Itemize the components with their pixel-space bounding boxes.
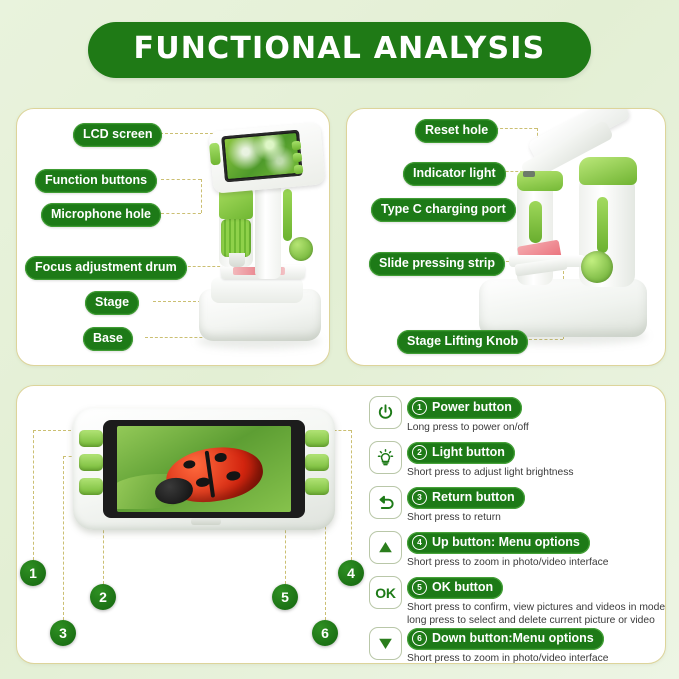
legend-item-down: 6 Down button:Menu options Short press t… bbox=[369, 627, 608, 664]
legend-pill-power: 1 Power button bbox=[407, 397, 522, 419]
label-indicator-light: Indicator light bbox=[403, 162, 506, 186]
legend-pill-down: 6 Down button:Menu options bbox=[407, 628, 604, 650]
triangle-down-icon bbox=[369, 627, 402, 660]
label-stage: Stage bbox=[85, 291, 139, 315]
legend-desc-light: Short press to adjust light brightness bbox=[407, 466, 574, 479]
title-pill: FUNCTIONAL ANALYSIS bbox=[88, 22, 592, 78]
callout-number-2: 2 bbox=[90, 584, 116, 610]
legend-item-ok: OK 5 OK button Short press to confirm, v… bbox=[369, 576, 665, 627]
legend-badge-6: 6 bbox=[412, 631, 427, 646]
handheld-device-illustration bbox=[73, 408, 335, 530]
panel-button-guide: 1 2 3 4 5 6 1 Power button bbox=[16, 385, 666, 664]
microscope-illustration-front bbox=[193, 127, 323, 355]
light-bulb-icon bbox=[369, 441, 402, 474]
legend-desc-ok: Short press to confirm, view pictures an… bbox=[407, 601, 665, 614]
infographic-root: FUNCTIONAL ANALYSIS LCD screen bbox=[0, 0, 679, 679]
legend-title-light: Light button bbox=[432, 446, 505, 459]
legend-desc-ok-2: long press to select and delete current … bbox=[407, 614, 665, 627]
legend-pill-light: 2 Light button bbox=[407, 442, 515, 464]
legend-title-up: Up button: Menu options bbox=[432, 536, 580, 549]
legend-text-light: 2 Light button Short press to adjust lig… bbox=[407, 441, 574, 479]
label-slide-strip: Slide pressing strip bbox=[369, 252, 505, 276]
label-stage-lifting-knob: Stage Lifting Knob bbox=[397, 330, 528, 354]
callout-number-3: 3 bbox=[50, 620, 76, 646]
callout-number-5: 5 bbox=[272, 584, 298, 610]
callout-number-4: 4 bbox=[338, 560, 364, 586]
legend-text-return: 3 Return button Short press to return bbox=[407, 486, 525, 524]
legend-text-power: 1 Power button Long press to power on/of… bbox=[407, 396, 529, 434]
legend-desc-power: Long press to power on/off bbox=[407, 421, 529, 434]
legend-item-light: 2 Light button Short press to adjust lig… bbox=[369, 441, 574, 479]
legend-title-ok: OK button bbox=[432, 581, 493, 594]
connector-callout-1-v bbox=[33, 430, 34, 560]
label-focus-drum: Focus adjustment drum bbox=[25, 256, 187, 280]
label-reset-hole: Reset hole bbox=[415, 119, 498, 143]
legend-title-power: Power button bbox=[432, 401, 512, 414]
label-base: Base bbox=[83, 327, 133, 351]
connector-callout-4-v bbox=[351, 430, 352, 560]
legend-title-return: Return button bbox=[432, 491, 515, 504]
device-screen-image bbox=[117, 426, 291, 512]
panel-front-view: LCD screen Function buttons Microphone h… bbox=[16, 108, 330, 366]
legend-title-down: Down button:Menu options bbox=[432, 632, 594, 645]
microscope-illustration-rear bbox=[475, 115, 655, 355]
legend-text-up: 4 Up button: Menu options Short press to… bbox=[407, 531, 608, 569]
legend-badge-3: 3 bbox=[412, 490, 427, 505]
ok-icon-label: OK bbox=[375, 585, 395, 601]
triangle-up-icon bbox=[369, 531, 402, 564]
legend-item-power: 1 Power button Long press to power on/of… bbox=[369, 396, 529, 434]
ok-icon: OK bbox=[369, 576, 402, 609]
callout-number-1: 1 bbox=[20, 560, 46, 586]
callout-number-6: 6 bbox=[312, 620, 338, 646]
legend-badge-4: 4 bbox=[412, 535, 427, 550]
panel-rear-view: Reset hole Indicator light Type C chargi… bbox=[346, 108, 666, 366]
legend-text-down: 6 Down button:Menu options Short press t… bbox=[407, 627, 608, 664]
legend-badge-2: 2 bbox=[412, 445, 427, 460]
legend-badge-5: 5 bbox=[412, 580, 427, 595]
label-function-buttons: Function buttons bbox=[35, 169, 157, 193]
legend-desc-down: Short press to zoom in photo/video inter… bbox=[407, 652, 608, 664]
legend-pill-up: 4 Up button: Menu options bbox=[407, 532, 590, 554]
return-arrow-icon bbox=[369, 486, 402, 519]
connector-callout-3-v bbox=[63, 456, 64, 620]
legend-desc-up: Short press to zoom in photo/video inter… bbox=[407, 556, 608, 569]
page-title: FUNCTIONAL ANALYSIS bbox=[134, 34, 546, 64]
label-microphone-hole: Microphone hole bbox=[41, 203, 161, 227]
legend-pill-return: 3 Return button bbox=[407, 487, 525, 509]
legend-item-return: 3 Return button Short press to return bbox=[369, 486, 525, 524]
title-banner: FUNCTIONAL ANALYSIS bbox=[0, 22, 679, 78]
legend-badge-1: 1 bbox=[412, 400, 427, 415]
legend-item-up: 4 Up button: Menu options Short press to… bbox=[369, 531, 608, 569]
legend-desc-return: Short press to return bbox=[407, 511, 525, 524]
legend-text-ok: 5 OK button Short press to confirm, view… bbox=[407, 576, 665, 627]
label-type-c-port: Type C charging port bbox=[371, 198, 516, 222]
label-lcd-screen: LCD screen bbox=[73, 123, 162, 147]
legend-pill-ok: 5 OK button bbox=[407, 577, 503, 599]
power-icon bbox=[369, 396, 402, 429]
